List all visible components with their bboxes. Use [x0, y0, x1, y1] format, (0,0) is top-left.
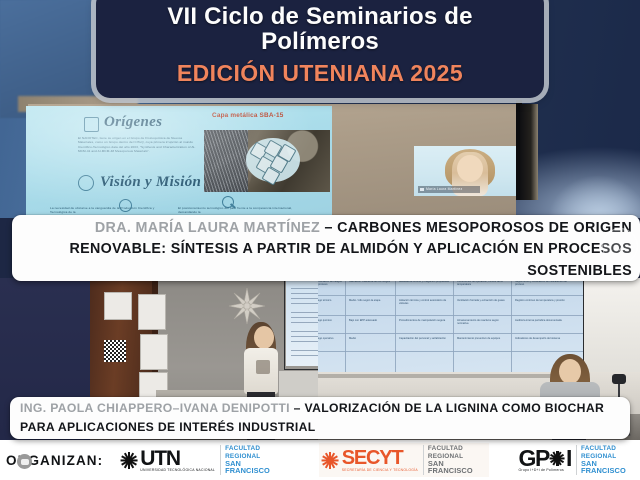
gpi-wordmark: GP I Grupo I+D+i de Polímeros	[519, 448, 571, 472]
faculty-line-3: SAN FRANCISCO	[225, 460, 283, 475]
laptop-lid	[520, 104, 538, 200]
gpi-faculty-block: FACULTAD REGIONAL SAN FRANCISCO	[576, 445, 640, 475]
wall-sign	[140, 334, 168, 370]
utn-word: UTN	[140, 449, 215, 468]
presenter-head	[254, 326, 274, 349]
event-edition: EDICIÓN UTENIANA 2025	[177, 60, 463, 86]
gpi-word-left: GP	[519, 448, 549, 468]
caption-card-speaker-1: DRA. MARÍA LAURA MARTÍNEZ – CARBONES MES…	[12, 215, 640, 281]
document-icon	[84, 117, 99, 132]
title-card: VII Ciclo de Seminarios de Polímeros EDI…	[96, 0, 544, 98]
poster-stage: Orígenes El NANOTEC, tiene su origen en …	[0, 0, 640, 480]
magnifier-icon	[222, 196, 234, 208]
secyt-subtitle: SECRETARÍA DE CIENCIA Y TECNOLOGÍA	[342, 467, 418, 471]
utn-faculty-block: FACULTAD REGIONAL SAN FRANCISCO	[220, 445, 283, 475]
organizan-label-wrap: ORGANIZAN:	[6, 453, 103, 468]
wall-sign	[104, 292, 132, 320]
logo-gpi: GP I Grupo I+D+i de Polímeros FACULTAD	[519, 445, 640, 475]
caption-text-2: ING. PAOLA CHIAPPERO–IVANA DENIPOTTI – V…	[10, 397, 630, 437]
carousel-next-button[interactable]: ›	[602, 228, 638, 264]
faculty-line-1: FACULTAD	[581, 445, 640, 452]
shirt-graphic	[256, 360, 270, 374]
camera-icon	[612, 374, 626, 384]
caption-card-speaker-2: ING. PAOLA CHIAPPERO–IVANA DENIPOTTI – V…	[10, 397, 630, 439]
participant-name: María Laura Martínez	[426, 187, 462, 191]
projection-screen-left	[286, 280, 320, 366]
caption-dash-1: –	[320, 220, 337, 236]
faculty-line-1: FACULTAD	[225, 445, 283, 452]
utn-wall-emblem	[226, 286, 268, 326]
slide-heading-origenes: Orígenes	[104, 114, 162, 131]
gpi-subtitle: Grupo I+D+i de Polímeros	[519, 468, 571, 472]
utn-subtitle: UNIVERSIDAD TECNOLÓGICA NACIONAL	[140, 467, 215, 471]
projected-slide: Orígenes El NANOTEC, tiene su origen en …	[26, 106, 332, 218]
organizers-bar: ORGANIZAN: UTN UNIVERSIDAD TECNOLÓGICA N…	[0, 440, 640, 480]
secyt-faculty-block: FACULTAD REGIONAL SAN FRANCISCO	[423, 445, 486, 475]
caption-speaker-2: ING. PAOLA CHIAPPERO–IVANA DENIPOTTI	[20, 401, 290, 415]
faculty-line-3: SAN FRANCISCO	[428, 460, 486, 475]
slide-body-mision: El posicionamiento tecnológico del país …	[178, 206, 306, 215]
slide-heading-vision: Visión y Misión	[100, 174, 201, 191]
gpi-sun-icon	[550, 451, 565, 466]
qr-code	[104, 340, 126, 362]
participant-name-bar: María Laura Martínez	[418, 186, 480, 193]
caption-dash-2: –	[290, 401, 305, 415]
event-title: VII Ciclo de Seminarios de Polímeros	[110, 4, 530, 54]
faculty-line-1: FACULTAD	[428, 445, 486, 452]
wall-sign	[138, 294, 166, 330]
gpi-word-right: I	[566, 448, 571, 468]
caption-text-1: DRA. MARÍA LAURA MARTÍNEZ – CARBONES MES…	[12, 215, 640, 282]
logo-utn: UTN UNIVERSIDAD TECNOLÓGICA NACIONAL FAC…	[120, 445, 283, 475]
utn-sun-icon	[120, 452, 137, 469]
secyt-wordmark: SECYT SECRETARÍA DE CIENCIA Y TECNOLOGÍA	[342, 449, 418, 472]
avatar-overlay-icon	[17, 454, 32, 469]
faculty-line-3: SAN FRANCISCO	[581, 460, 640, 475]
target-icon	[119, 199, 132, 212]
slide-body-origenes: El NANOTEC, tiene su origen en el Grupo …	[78, 136, 196, 154]
projector-haze	[548, 176, 640, 218]
utn-wordmark: UTN UNIVERSIDAD TECNOLÓGICA NACIONAL	[140, 449, 215, 472]
presenter-head	[559, 359, 581, 384]
caption-speaker-1: DRA. MARÍA LAURA MARTÍNEZ	[95, 220, 320, 236]
gpi-word-row: GP I	[519, 448, 571, 468]
secyt-sun-icon	[322, 452, 339, 469]
secyt-word: SECYT	[342, 449, 418, 468]
logo-secyt: SECYT SECRETARÍA DE CIENCIA Y TECNOLOGÍA…	[319, 443, 489, 477]
micrograph-pore-cluster	[246, 138, 300, 182]
video-call-tile: María Laura Martínez	[414, 146, 526, 196]
slide-body-vision: La necesidad de ubicarse a la vanguardia…	[50, 206, 162, 215]
eye-icon	[78, 175, 94, 191]
participant-face	[457, 155, 483, 182]
micrograph-caption: Capa metálica SBA-15	[212, 112, 284, 119]
micrograph-image	[204, 130, 330, 192]
chevron-right-icon: ›	[618, 237, 624, 256]
micrograph-lattice	[204, 130, 248, 192]
